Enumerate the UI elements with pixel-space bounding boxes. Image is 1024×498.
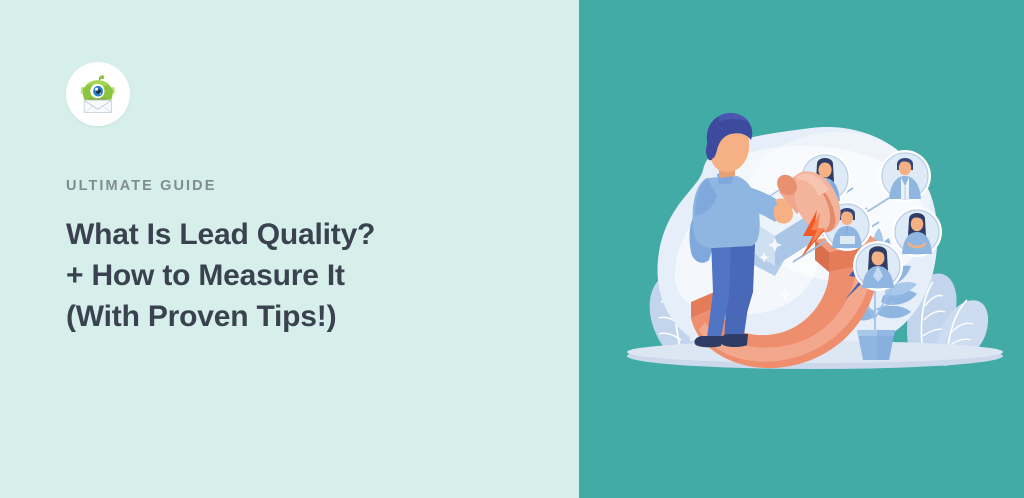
headline-line-1: What Is Lead Quality? (66, 214, 506, 255)
avatar-bubble-4 (892, 207, 942, 257)
monster-envelope-logo-icon (72, 68, 124, 120)
eyebrow-label: ULTIMATE GUIDE (66, 178, 579, 194)
featured-image-banner: ULTIMATE GUIDE What Is Lead Quality? + H… (0, 0, 1024, 498)
left-content-panel: ULTIMATE GUIDE What Is Lead Quality? + H… (0, 0, 579, 498)
optinmonster-logo[interactable] (66, 62, 130, 126)
lead-magnet-illustration (579, 0, 1024, 498)
headline-line-3: (With Proven Tips!) (66, 296, 506, 337)
avatar-bubble-5 (853, 241, 903, 291)
page-title: What Is Lead Quality? + How to Measure I… (66, 214, 506, 337)
avatar-bubble-2 (879, 150, 931, 202)
illustration-panel (579, 0, 1024, 498)
headline-line-2: + How to Measure It (66, 255, 506, 296)
